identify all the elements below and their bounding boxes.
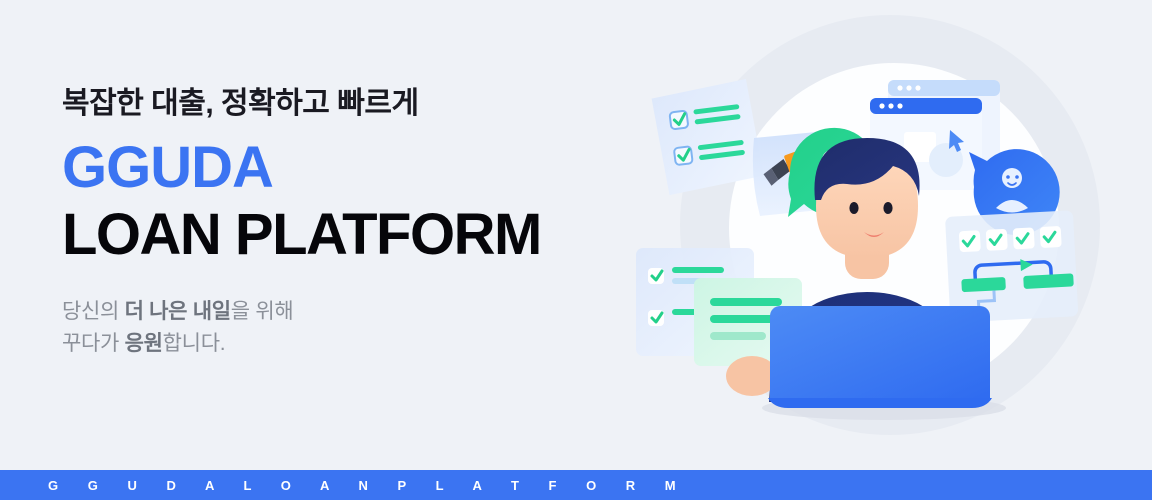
subtitle-line-2: 꾸다가 응원합니다. [62, 328, 622, 361]
subtitle-line-1: 당신의 더 나은 내일을 위해 [62, 296, 622, 329]
ticker-text: G G U D A L O A N P L A T F O R M [0, 478, 689, 493]
hero-subtitle: 당신의 더 나은 내일을 위해 꾸다가 응원합니다. [62, 296, 622, 361]
loan-platform-hero-illustration [632, 10, 1102, 455]
subtitle-line-1-post: 을 위해 [231, 300, 294, 323]
brand-name: GGUDA [62, 138, 622, 199]
subtitle-line-2-pre: 꾸다가 [62, 332, 125, 355]
flowchart-card [945, 210, 1078, 323]
checklist-paper-top-left [651, 78, 765, 196]
subtitle-line-1-pre: 당신의 [62, 300, 125, 323]
hero-tagline: 복잡한 대출, 정확하고 빠르게 [62, 86, 622, 122]
hero-banner: 복잡한 대출, 정확하고 빠르게 GGUDA LOAN PLATFORM 당신의… [0, 0, 1152, 500]
product-name: LOAN PLATFORM [62, 205, 622, 266]
subtitle-line-2-post: 합니다. [163, 332, 226, 355]
hero-copy-block: 복잡한 대출, 정확하고 빠르게 GGUDA LOAN PLATFORM 당신의… [62, 86, 622, 361]
subtitle-line-2-emphasis: 응원 [125, 332, 163, 355]
subtitle-line-1-emphasis: 더 나은 내일 [125, 300, 231, 323]
bottom-ticker-bar: G G U D A L O A N P L A T F O R M [0, 470, 1152, 500]
laptop [768, 306, 992, 408]
